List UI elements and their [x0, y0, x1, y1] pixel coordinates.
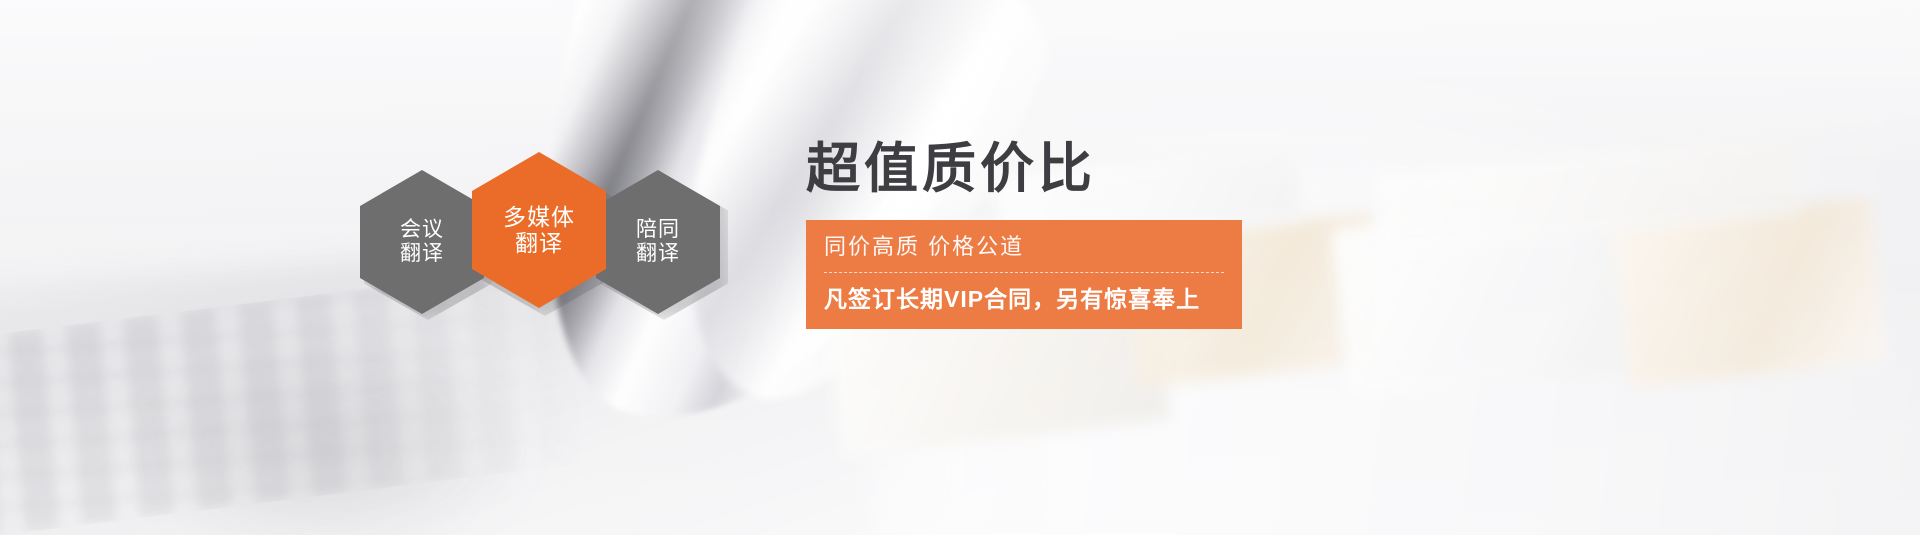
promo-offer: 凡签订长期VIP合同，另有惊喜奉上: [824, 285, 1224, 314]
promo-box: 同价高质 价格公道 凡签订长期VIP合同，另有惊喜奉上: [806, 220, 1242, 328]
promo-divider: [824, 272, 1224, 273]
hexagon-label-line1: 多媒体: [503, 204, 575, 230]
hexagon-label-line1: 会议: [400, 218, 444, 242]
hexagon-label-line2: 翻译: [515, 230, 563, 256]
promo-tagline: 同价高质 价格公道: [824, 233, 1224, 272]
hexagon-label-line2: 翻译: [400, 242, 444, 266]
service-hexagon-group: 会议 翻译 陪同 翻译 多媒体 翻译: [360, 152, 760, 332]
promo-banner: 会议 翻译 陪同 翻译 多媒体 翻译 超值质价比 同价高质 价格公道 凡签订长期…: [0, 0, 1920, 535]
hexagon-label-line1: 陪同: [636, 218, 680, 242]
copy-block: 超值质价比 同价高质 价格公道 凡签订长期VIP合同，另有惊喜奉上: [806, 140, 1506, 329]
background-book-shadow: [120, 330, 540, 535]
page-title: 超值质价比: [806, 140, 1506, 198]
hexagon-label-line2: 翻译: [636, 242, 680, 266]
